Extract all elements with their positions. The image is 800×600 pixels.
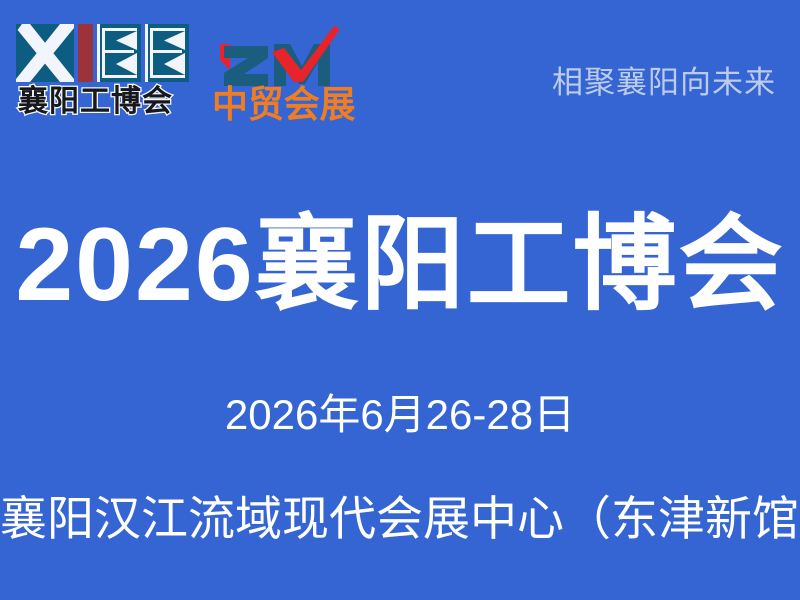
xibe-logo-subtitle: 襄阳工博会 <box>18 82 194 122</box>
poster-date: 2026年6月26-28日 <box>0 388 800 442</box>
zm-logo-subtitle: 中贸会展 <box>212 83 367 127</box>
xibe-logo: 襄阳工博会 <box>16 24 196 128</box>
exhibition-poster: 襄阳工博会 中贸会展 相聚襄阳向未来 2026襄阳工博会 2026年6月26-2… <box>0 0 800 600</box>
poster-main-title: 2026襄阳工博会 <box>0 205 800 325</box>
zm-logo: 中贸会展 <box>212 26 372 130</box>
xibe-wordmark-icon <box>16 24 192 82</box>
poster-header: 襄阳工博会 中贸会展 相聚襄阳向未来 <box>0 0 800 150</box>
poster-venue: 襄阳汉江流域现代会展中心（东津新馆） <box>0 489 800 549</box>
header-tagline: 相聚襄阳向未来 <box>552 63 776 103</box>
zm-wordmark-icon <box>220 26 342 88</box>
